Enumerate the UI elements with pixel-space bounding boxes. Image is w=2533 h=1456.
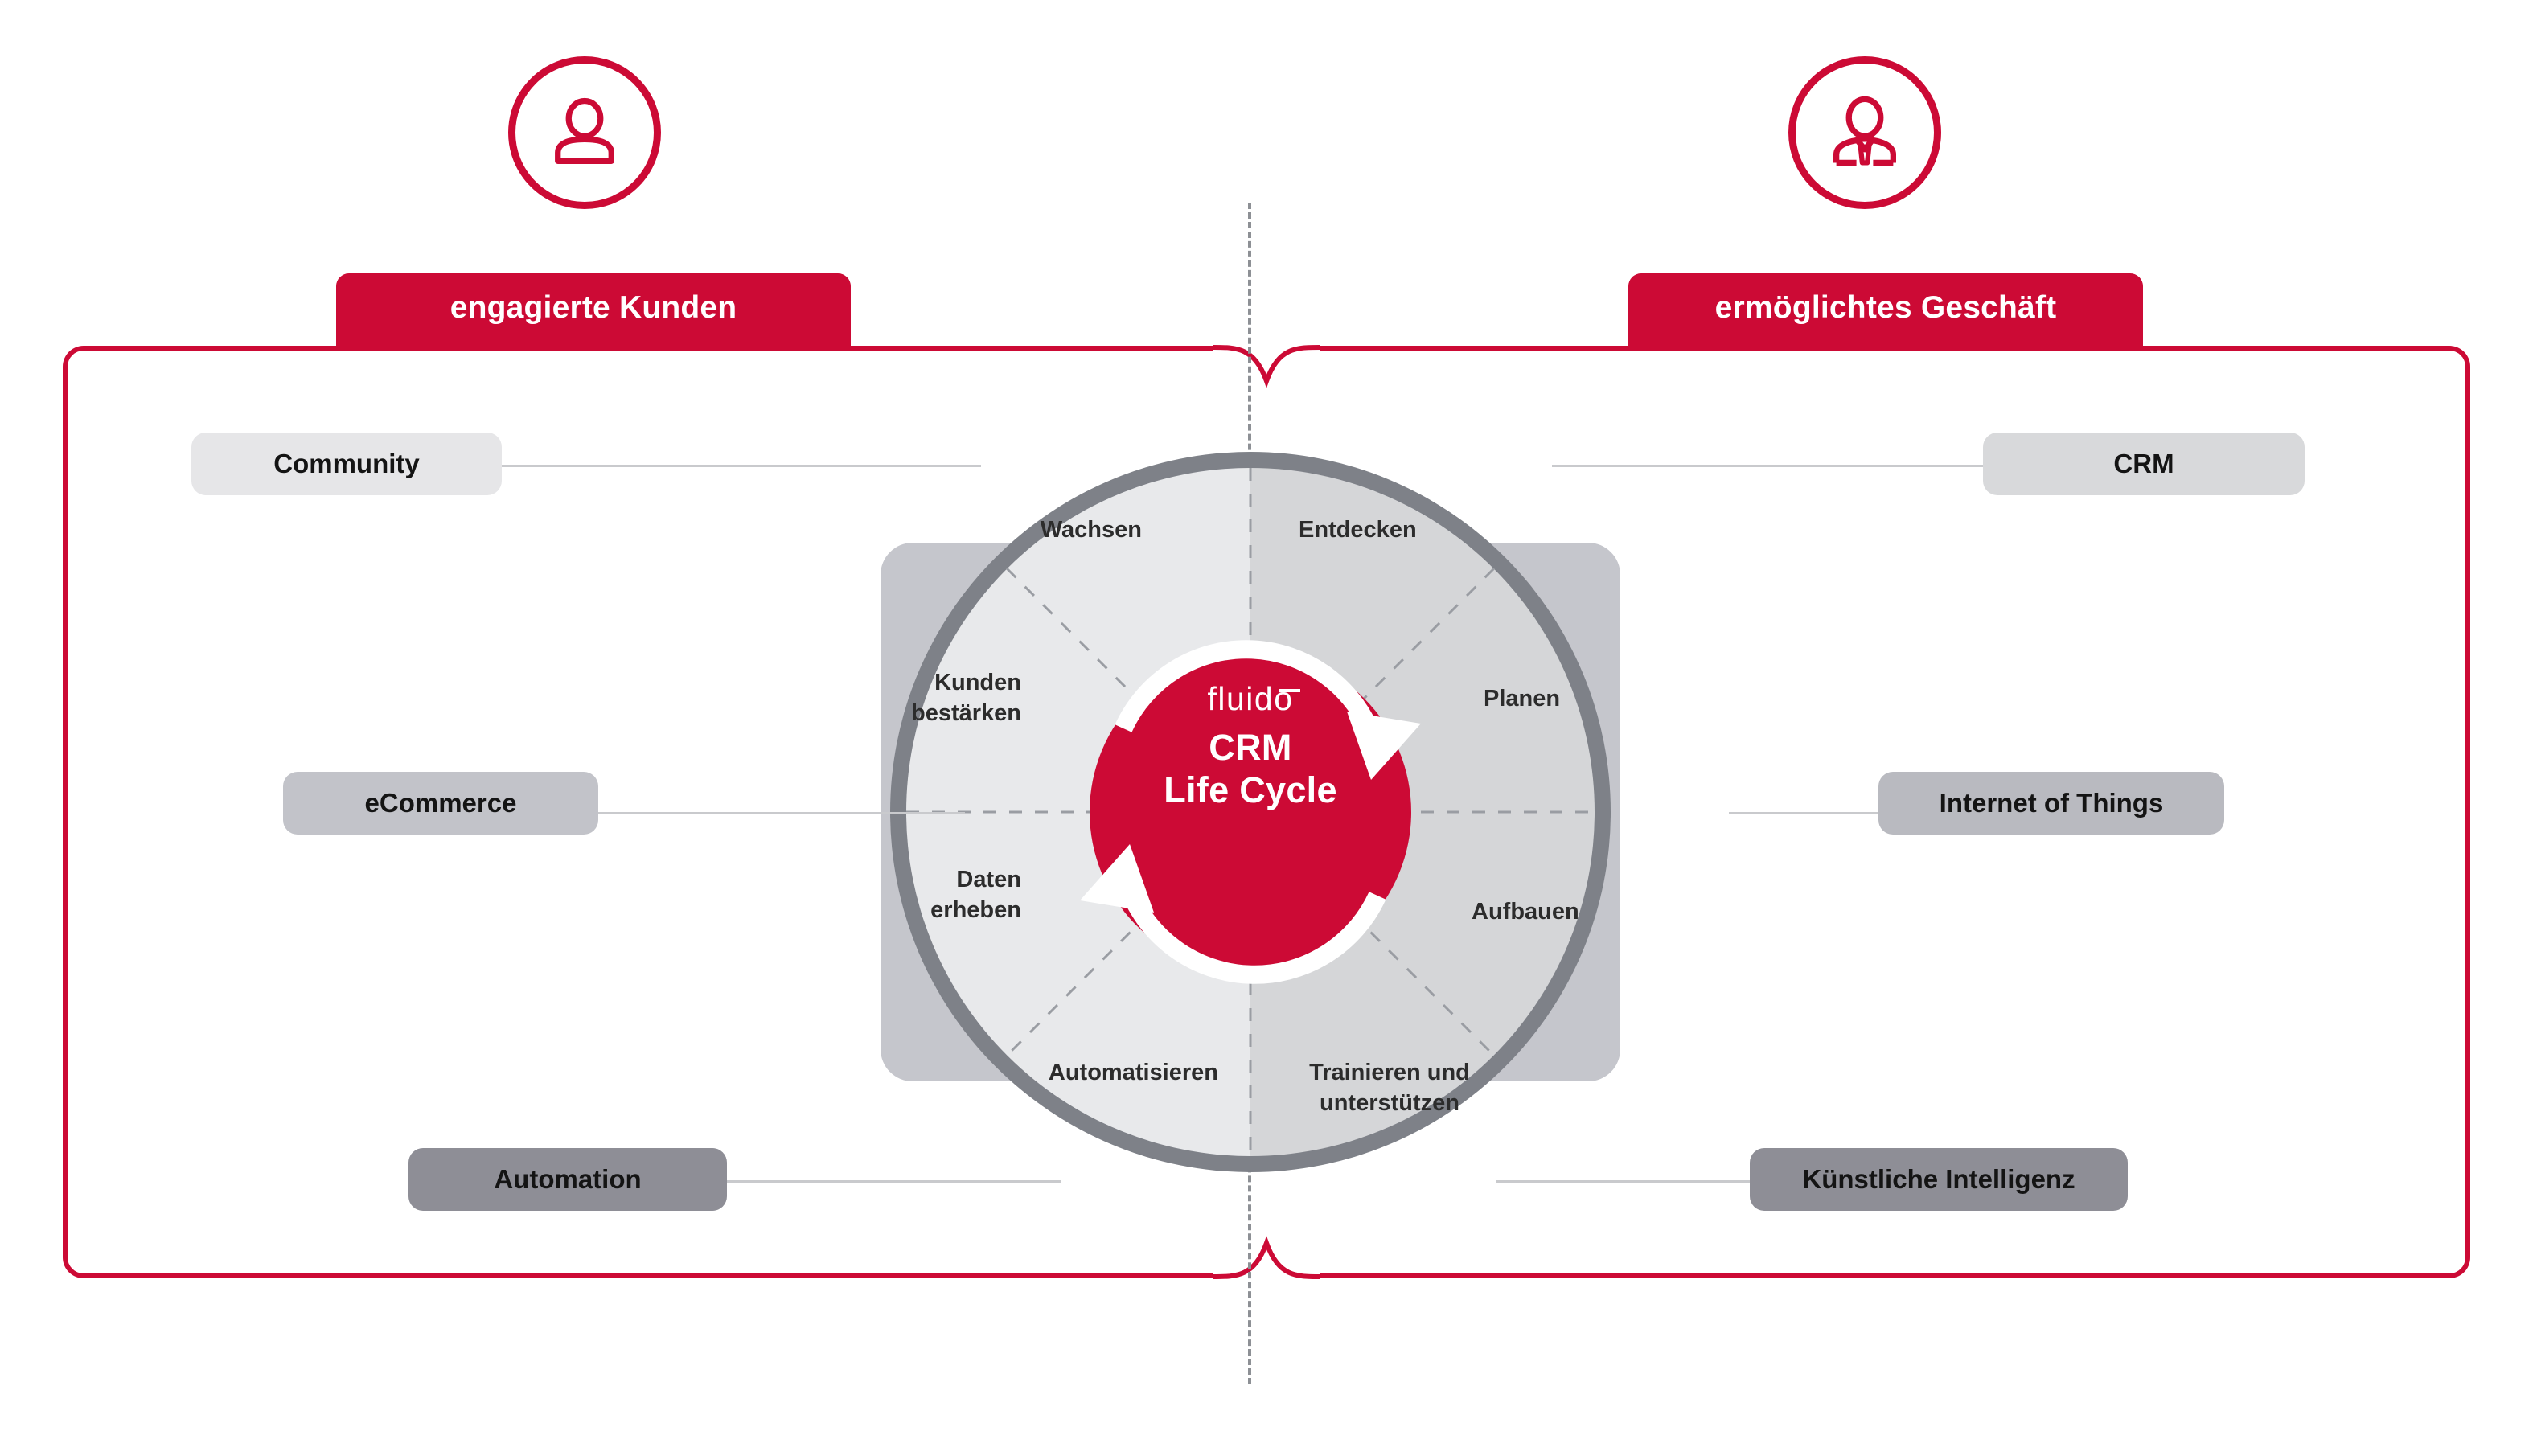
segment-label-planen: Planen [1484, 683, 1677, 714]
segment-label-aufbauen: Aufbauen [1472, 896, 1673, 927]
header-tab-left-label: engagierte Kunden [450, 290, 737, 326]
person-icon [543, 91, 626, 174]
segment-label-daten-erheben: Daten erheben [844, 864, 1021, 926]
pill-crm[interactable]: CRM [1983, 433, 2305, 495]
pill-kuenstliche-intelligenz-label: Künstliche Intelligenz [1802, 1164, 2075, 1195]
business-persona-icon [1788, 56, 1941, 209]
segment-label-kunden-bestaerken: Kunden bestärken [836, 667, 1021, 729]
connector-community [499, 465, 981, 467]
segment-label-trainieren-unterstuetzen: Trainieren und unterstützen [1269, 1057, 1510, 1119]
pill-community-label: Community [273, 449, 420, 479]
pill-internet-of-things-label: Internet of Things [1940, 788, 2164, 818]
header-tab-right-label: ermöglichtes Geschäft [1715, 290, 2057, 326]
connector-kuenstliche-intelligenz [1496, 1180, 1753, 1183]
segment-label-wachsen: Wachsen [965, 515, 1142, 545]
connector-internet-of-things [1729, 812, 1882, 814]
connector-crm [1552, 465, 1986, 467]
pill-ecommerce-label: eCommerce [365, 788, 517, 818]
pill-ecommerce[interactable]: eCommerce [283, 772, 598, 835]
pill-internet-of-things[interactable]: Internet of Things [1878, 772, 2224, 835]
header-tab-engaged-customers[interactable]: engagierte Kunden [336, 273, 851, 346]
pill-community[interactable]: Community [191, 433, 502, 495]
pill-crm-label: CRM [2113, 449, 2174, 479]
pill-kuenstliche-intelligenz[interactable]: Künstliche Intelligenz [1750, 1148, 2128, 1211]
header-tab-enabled-business[interactable]: ermöglichtes Geschäft [1628, 273, 2143, 346]
connector-ecommerce [595, 812, 965, 814]
pill-automation[interactable]: Automation [408, 1148, 727, 1211]
diagram-canvas: engagierte Kunden ermöglichtes Geschäft [0, 0, 2533, 1456]
segment-label-automatisieren: Automatisieren [945, 1057, 1218, 1088]
business-person-tie-icon [1823, 91, 1907, 174]
segment-label-entdecken: Entdecken [1299, 515, 1508, 545]
connector-automation [724, 1180, 1061, 1183]
pill-automation-label: Automation [494, 1164, 641, 1195]
customer-persona-icon [508, 56, 661, 209]
